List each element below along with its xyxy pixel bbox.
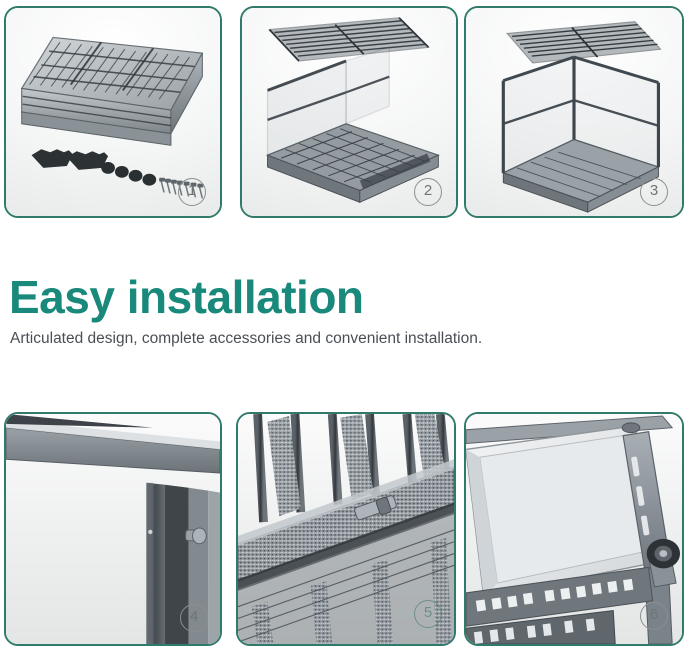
panel-4: 4 bbox=[4, 412, 222, 646]
page-title: Easy installation bbox=[9, 270, 364, 324]
panel-2-badge: 2 bbox=[414, 178, 442, 206]
panel-6: 6 bbox=[464, 412, 684, 646]
panel-1-badge: 1 bbox=[178, 178, 206, 206]
product-feature-graphic: 1 bbox=[0, 0, 692, 642]
panel-2: 2 bbox=[240, 6, 458, 218]
panel-5-badge: 5 bbox=[414, 600, 442, 628]
panel-1: 1 bbox=[4, 6, 222, 218]
panel-4-badge: 4 bbox=[180, 604, 208, 632]
headline-band: Easy installation Articulated design, co… bbox=[0, 268, 692, 368]
page-subtitle: Articulated design, complete accessories… bbox=[10, 330, 482, 348]
panel-5: 5 bbox=[236, 412, 456, 646]
panel-3: 3 bbox=[464, 6, 684, 218]
panel-3-badge: 3 bbox=[640, 178, 668, 206]
panel-6-badge: 6 bbox=[640, 602, 668, 630]
